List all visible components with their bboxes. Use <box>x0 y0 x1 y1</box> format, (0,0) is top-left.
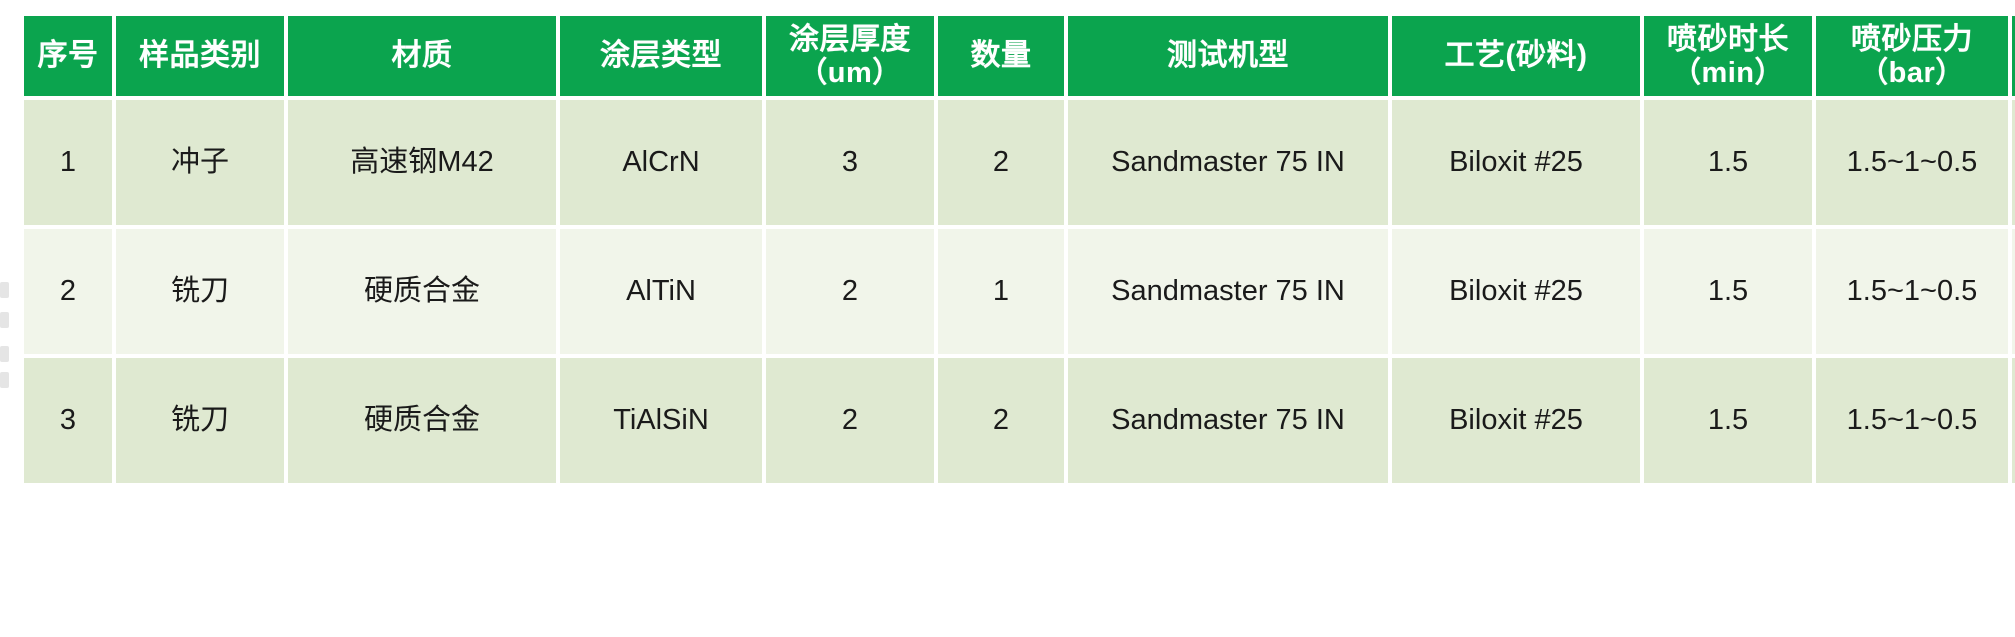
column-header-label: 样品类别 <box>139 39 261 72</box>
cell-blasting-duration[interactable]: 1.5 <box>1644 358 1812 483</box>
cell-quantity[interactable]: 2 <box>938 358 1064 483</box>
sample-test-plan-table: 序号 样品类别 材质 涂层类型 涂层厚度 （um） 数量 <box>20 12 2015 487</box>
table-header: 序号 样品类别 材质 涂层类型 涂层厚度 （um） 数量 <box>24 16 2015 96</box>
column-header-label: 涂层厚度 <box>789 23 911 56</box>
column-header-label: 喷砂时长 <box>1667 23 1789 56</box>
cell-material[interactable]: 硬质合金 <box>288 229 556 354</box>
cell-test-machine-model[interactable]: Sandmaster 75 IN <box>1068 229 1388 354</box>
cell-serial-number[interactable]: 3 <box>24 358 112 483</box>
column-header-quantity[interactable]: 数量 <box>938 16 1064 96</box>
cell-serial-number[interactable]: 1 <box>24 100 112 225</box>
cell-material[interactable]: 硬质合金 <box>288 358 556 483</box>
column-header-sample-category[interactable]: 样品类别 <box>116 16 284 96</box>
column-header-label: 涂层类型 <box>600 39 722 72</box>
column-header-process-abrasive[interactable]: 工艺(砂料) <box>1392 16 1640 96</box>
column-header-serial-number[interactable]: 序号 <box>24 16 112 96</box>
column-header-unit: （min） <box>1648 57 1808 89</box>
column-header-coating-type[interactable]: 涂层类型 <box>560 16 762 96</box>
cell-material[interactable]: 高速钢M42 <box>288 100 556 225</box>
cell-test-machine-model[interactable]: Sandmaster 75 IN <box>1068 358 1388 483</box>
column-header-label: 序号 <box>38 39 99 72</box>
cell-test-machine-model[interactable]: Sandmaster 75 IN <box>1068 100 1388 225</box>
column-header-coating-thickness[interactable]: 涂层厚度 （um） <box>766 16 934 96</box>
column-header-label: 数量 <box>971 39 1032 72</box>
cell-coating-thickness[interactable]: 2 <box>766 229 934 354</box>
table-row[interactable]: 2 铣刀 硬质合金 AlTiN 2 1 Sandmaster 75 IN Bil… <box>24 229 2015 354</box>
cell-quantity[interactable]: 1 <box>938 229 1064 354</box>
edge-artifact-mark <box>0 346 9 362</box>
cell-quantity[interactable]: 2 <box>938 100 1064 225</box>
column-header-label: 工艺(砂料) <box>1445 39 1588 72</box>
cell-sample-category[interactable]: 铣刀 <box>116 229 284 354</box>
table-header-row: 序号 样品类别 材质 涂层类型 涂层厚度 （um） 数量 <box>24 16 2015 96</box>
column-header-unit: （bar） <box>1820 57 2004 89</box>
column-header-blasting-pressure[interactable]: 喷砂压力 （bar） <box>1816 16 2008 96</box>
cell-serial-number[interactable]: 2 <box>24 229 112 354</box>
spreadsheet-sheet: 序号 样品类别 材质 涂层类型 涂层厚度 （um） 数量 <box>0 0 2015 637</box>
column-header-blasting-duration[interactable]: 喷砂时长 （min） <box>1644 16 1812 96</box>
column-header-unit: （um） <box>770 57 930 89</box>
cell-coating-thickness[interactable]: 2 <box>766 358 934 483</box>
table-body: 1 冲子 高速钢M42 AlCrN 3 2 Sandmaster 75 IN B… <box>24 100 2015 483</box>
cell-blasting-pressure[interactable]: 1.5~1~0.5 <box>1816 100 2008 225</box>
table-row[interactable]: 3 铣刀 硬质合金 TiAlSiN 2 2 Sandmaster 75 IN B… <box>24 358 2015 483</box>
cell-blasting-duration[interactable]: 1.5 <box>1644 100 1812 225</box>
cell-coating-thickness[interactable]: 3 <box>766 100 934 225</box>
cell-blasting-pressure[interactable]: 1.5~1~0.5 <box>1816 358 2008 483</box>
column-header-label: 材质 <box>392 39 453 72</box>
column-header-label: 喷砂压力 <box>1851 23 1973 56</box>
cell-sample-category[interactable]: 铣刀 <box>116 358 284 483</box>
cell-process-abrasive[interactable]: Biloxit #25 <box>1392 358 1640 483</box>
cell-process-abrasive[interactable]: Biloxit #25 <box>1392 229 1640 354</box>
cell-coating-type[interactable]: AlTiN <box>560 229 762 354</box>
cell-blasting-pressure[interactable]: 1.5~1~0.5 <box>1816 229 2008 354</box>
cell-sample-category[interactable]: 冲子 <box>116 100 284 225</box>
edge-artifact-mark <box>0 372 9 388</box>
table-row[interactable]: 1 冲子 高速钢M42 AlCrN 3 2 Sandmaster 75 IN B… <box>24 100 2015 225</box>
edge-artifact-mark <box>0 312 9 328</box>
cell-blasting-duration[interactable]: 1.5 <box>1644 229 1812 354</box>
column-header-test-machine-model[interactable]: 测试机型 <box>1068 16 1388 96</box>
cell-process-abrasive[interactable]: Biloxit #25 <box>1392 100 1640 225</box>
column-header-material[interactable]: 材质 <box>288 16 556 96</box>
cell-coating-type[interactable]: AlCrN <box>560 100 762 225</box>
column-header-label: 测试机型 <box>1167 39 1289 72</box>
edge-artifact-mark <box>0 282 9 298</box>
cell-coating-type[interactable]: TiAlSiN <box>560 358 762 483</box>
